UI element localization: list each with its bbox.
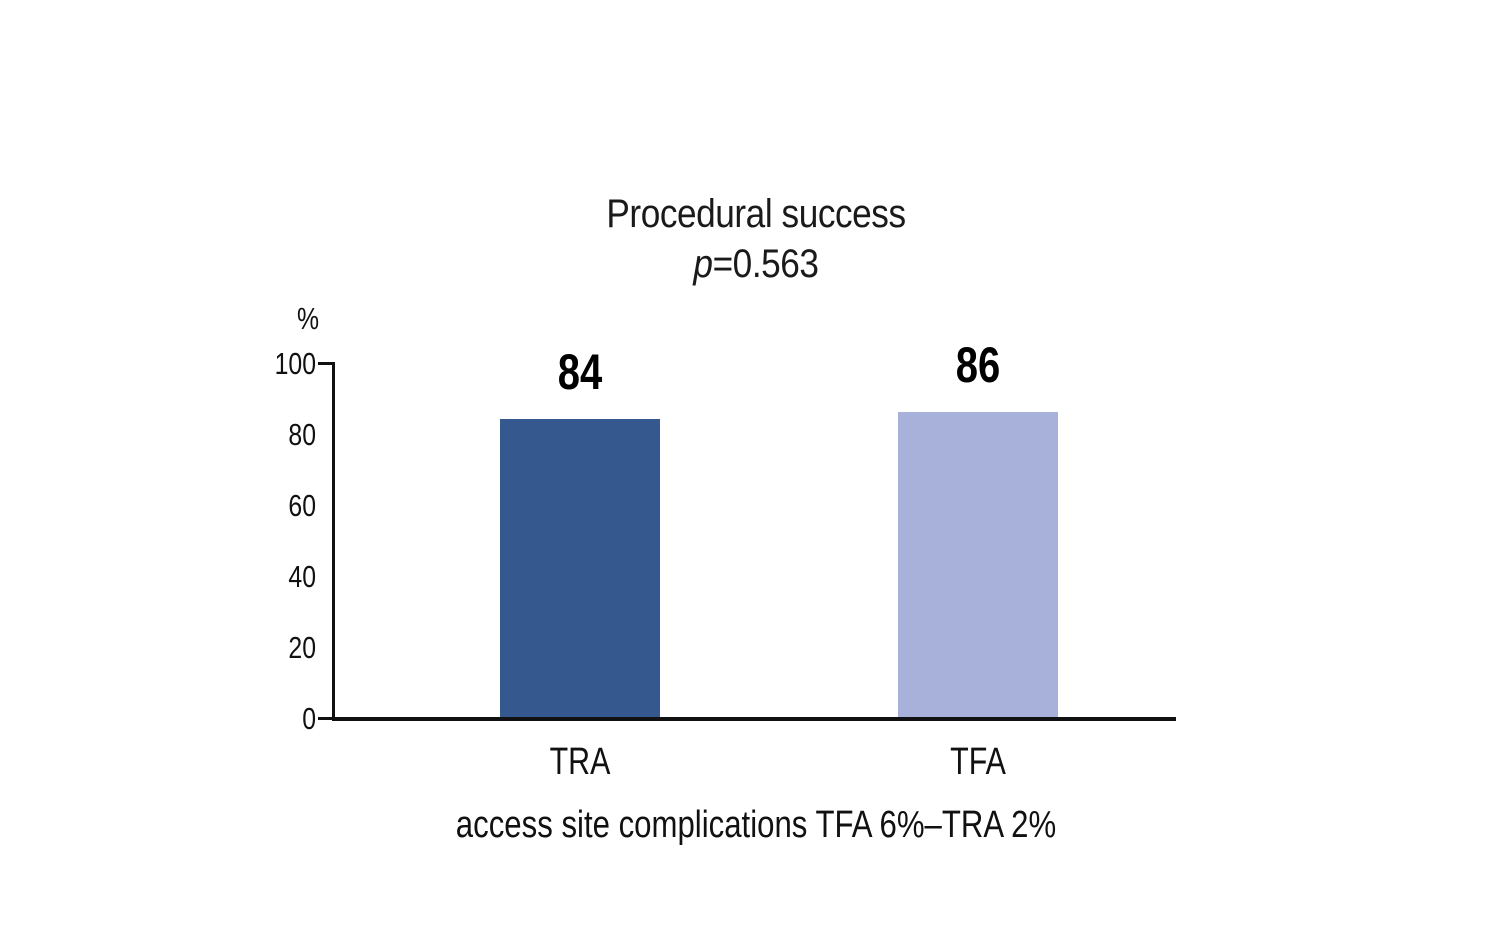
plot-area	[332, 362, 1176, 717]
bar-tra[interactable]	[500, 419, 660, 717]
y-tick-label-0: 0	[220, 703, 316, 734]
chart-title: Procedural success	[91, 194, 1422, 234]
chart-caption: access site complications TFA 6%–TRA 2%	[136, 806, 1376, 844]
bar-value-label-tra: 84	[516, 347, 644, 397]
x-category-label-tra: TRA	[516, 743, 644, 781]
bar-tfa[interactable]	[898, 412, 1058, 717]
y-axis-unit-label: %	[297, 303, 319, 334]
y-tick-label-100: 100	[220, 348, 316, 379]
chart-figure: Procedural success p=0.563 % 100 80 60 4…	[0, 0, 1512, 945]
y-tick-label-80: 80	[220, 419, 316, 450]
y-axis-line	[332, 362, 335, 717]
y-axis-tick-100	[318, 362, 332, 365]
y-tick-label-60: 60	[220, 490, 316, 521]
chart-pvalue: p=0.563	[91, 244, 1422, 284]
pvalue-number: =0.563	[713, 242, 819, 286]
x-category-label-tfa: TFA	[914, 743, 1042, 781]
y-tick-label-40: 40	[220, 561, 316, 592]
y-tick-label-20: 20	[220, 632, 316, 663]
chart-title-block: Procedural success p=0.563	[0, 194, 1512, 284]
bar-value-label-tfa: 86	[914, 340, 1042, 390]
pvalue-symbol: p	[693, 242, 712, 286]
x-axis-line	[332, 717, 1176, 721]
y-axis-tick-0	[318, 717, 332, 720]
